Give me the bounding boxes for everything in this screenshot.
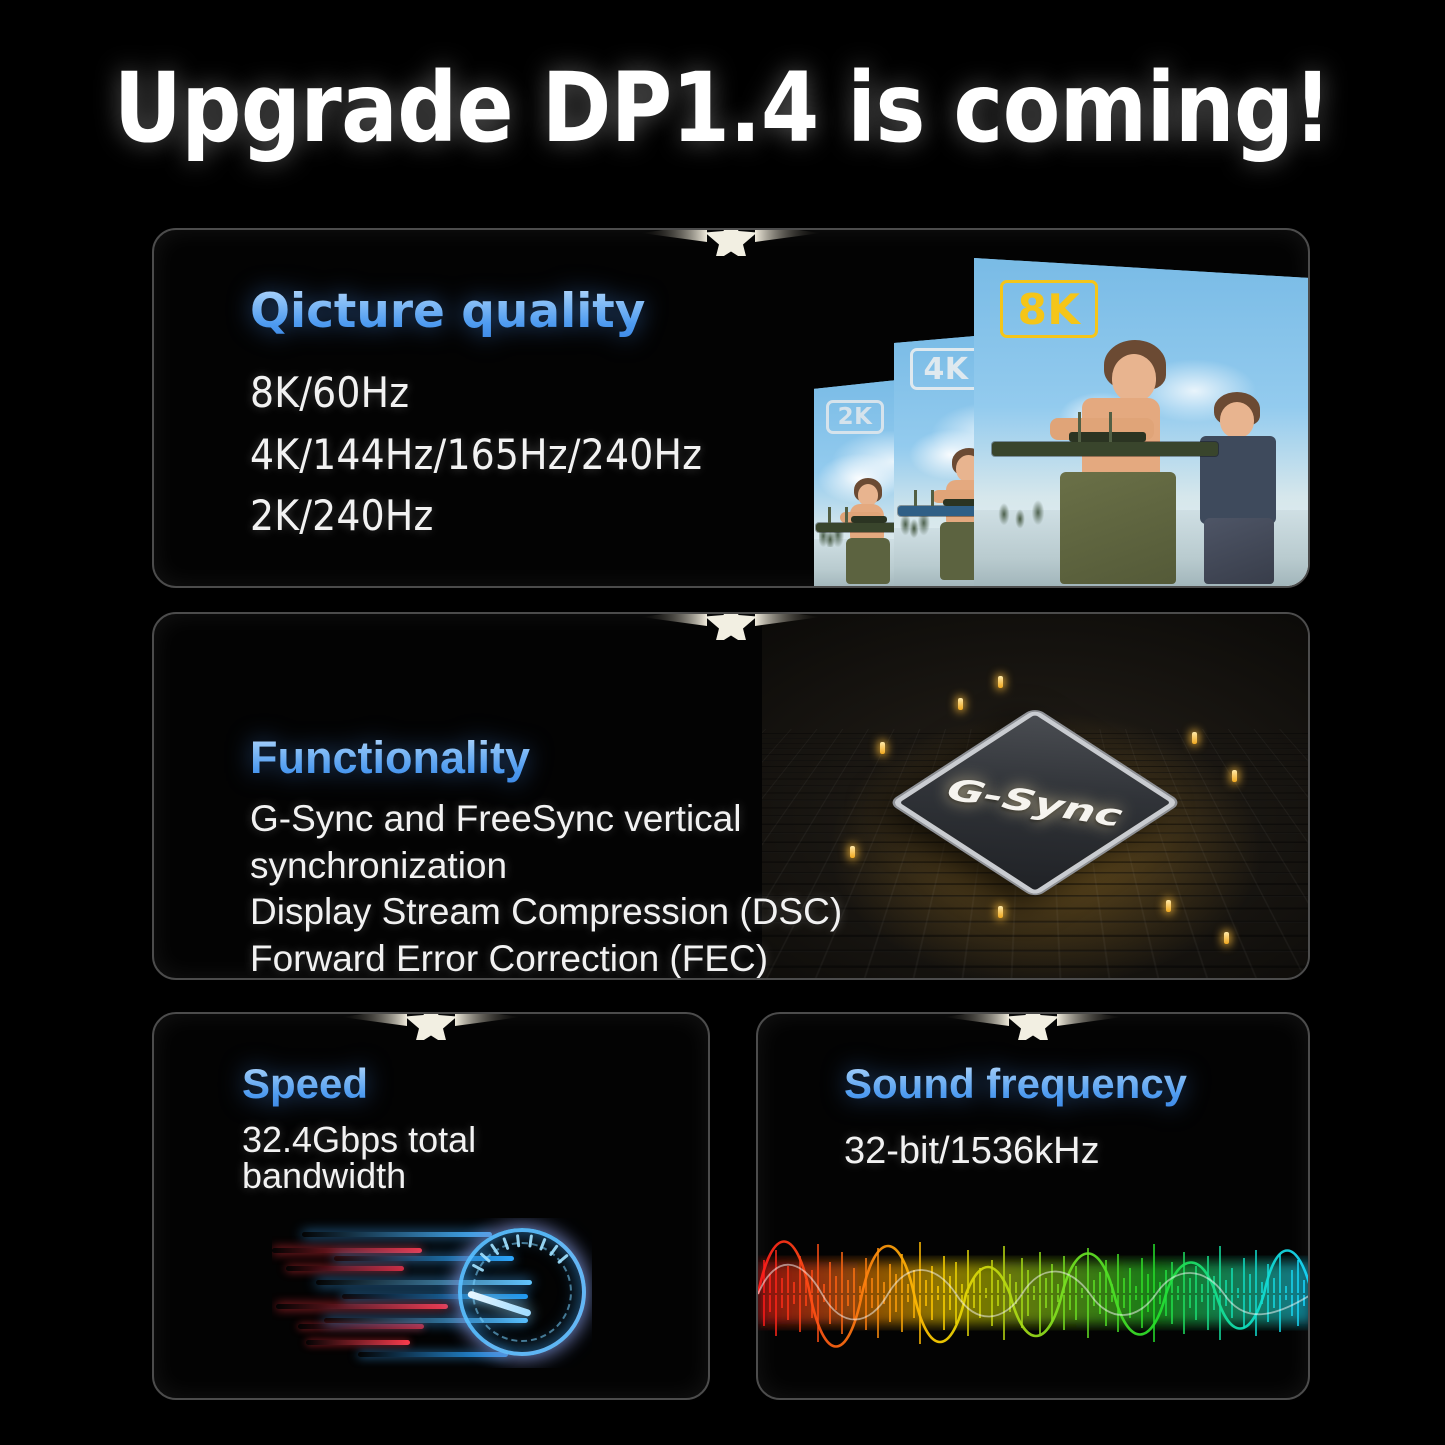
page-title: Upgrade DP1.4 is coming! (22, 58, 1424, 159)
chip-label: G-Sync (938, 772, 1132, 833)
card-body-sound-frequency: 32-bit/1536kHz (844, 1130, 1100, 1173)
audio-waveform-art (758, 1200, 1308, 1388)
card-picture-quality[interactable]: 2K 4K (152, 228, 1310, 588)
monitor-screens-art: 2K 4K (808, 230, 1308, 588)
screen-8k: 8K (974, 258, 1308, 588)
card-sound-frequency[interactable]: Sound frequency 32-bit/1536kHz (756, 1012, 1310, 1400)
card-speed[interactable]: Speed 32.4Gbps total bandwidth (152, 1012, 710, 1400)
card-body-functionality: G-Sync and FreeSync vertical synchroniza… (250, 796, 842, 980)
card-heading-picture-quality: Qicture quality (250, 284, 645, 339)
gsync-chip-art: G-Sync (762, 614, 1308, 980)
card-body-speed: 32.4Gbps total bandwidth (242, 1122, 476, 1194)
card-heading-sound-frequency: Sound frequency (844, 1060, 1187, 1108)
card-body-picture-quality: 8K/60Hz 4K/144Hz/165Hz/240Hz 2K/240Hz (250, 362, 702, 547)
badge-8k-label: 8K (1018, 285, 1081, 334)
badge-8k: 8K (1000, 280, 1098, 338)
card-heading-speed: Speed (242, 1060, 368, 1108)
badge-2k-label: 2K (838, 404, 873, 430)
card-functionality[interactable]: G-Sync Functionality G-Sync and FreeSync… (152, 612, 1310, 980)
speedometer-art (272, 1218, 592, 1368)
badge-4k-label: 4K (923, 352, 968, 387)
badge-4k: 4K (910, 348, 982, 390)
badge-2k: 2K (826, 400, 884, 434)
card-heading-functionality: Functionality (250, 732, 530, 784)
